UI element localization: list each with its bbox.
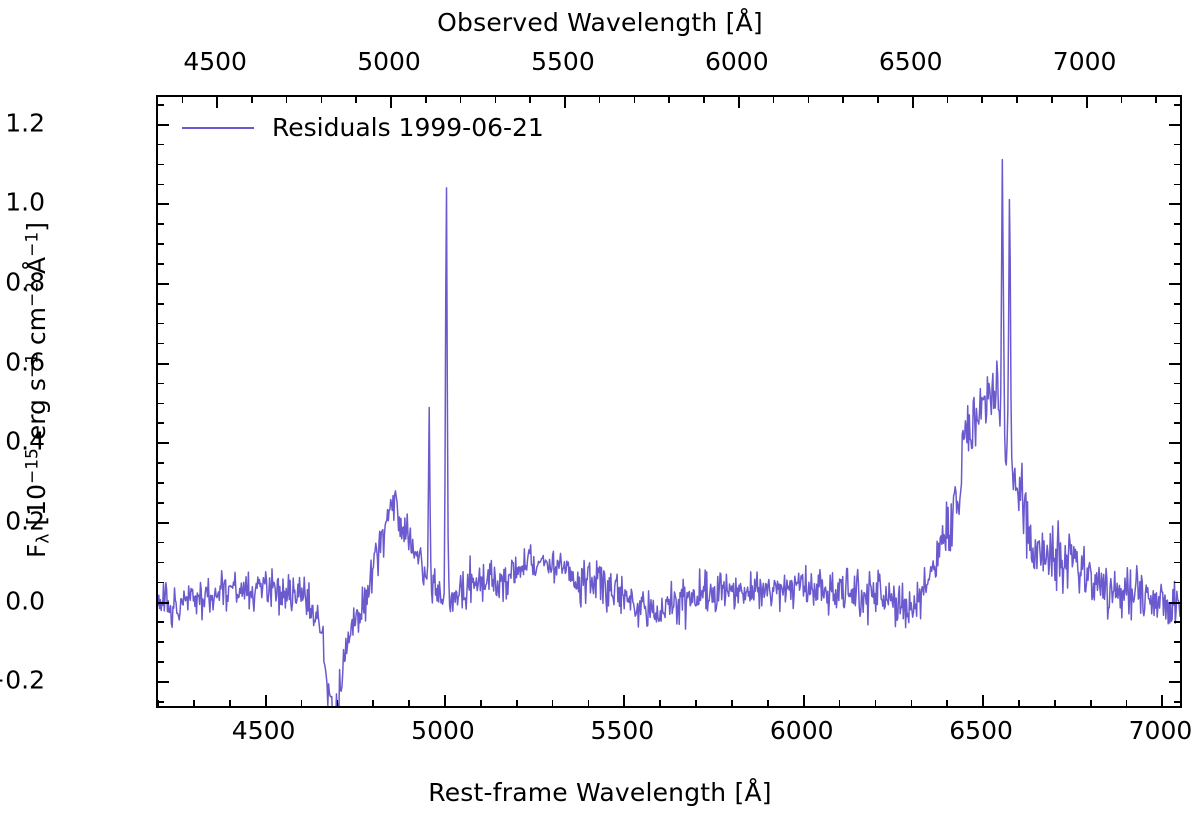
minor-tick [1126,700,1128,706]
figure-canvas: Observed Wavelength [Å] Fλ [10−15 erg s−… [0,0,1200,817]
minor-tick [321,97,323,103]
minor-tick [1174,482,1180,484]
major-tick [158,124,169,126]
major-tick [1169,681,1180,683]
minor-tick [1174,164,1180,166]
minor-tick [1174,343,1180,345]
minor-tick [158,482,164,484]
minor-tick [1174,462,1180,464]
minor-tick [552,700,554,706]
minor-tick [1121,97,1123,103]
major-tick [158,363,169,365]
minor-tick [301,700,303,706]
minor-tick [842,97,844,103]
minor-tick [877,97,879,103]
minor-tick [425,97,427,103]
minor-tick [808,97,810,103]
legend-label: Residuals 1999-06-21 [272,113,544,142]
major-tick [265,695,267,706]
minor-tick [158,303,164,305]
minor-tick [158,403,164,405]
minor-tick [495,97,497,103]
minor-tick [1174,422,1180,424]
minor-tick [193,700,195,706]
tick-label: 5000 [411,716,475,745]
minor-tick [1174,383,1180,385]
tick-label: 6500 [949,716,1013,745]
major-tick [1169,363,1180,365]
minor-tick [158,641,164,643]
minor-tick [408,700,410,706]
minor-tick [158,104,164,106]
minor-tick [1054,700,1056,706]
minor-tick [946,700,948,706]
minor-tick [460,97,462,103]
major-tick [912,97,914,108]
minor-tick [1174,323,1180,325]
tick-label: −0.2 [0,666,45,695]
minor-tick [251,97,253,103]
major-tick [1169,203,1180,205]
major-tick [216,97,218,108]
major-tick [1169,602,1180,604]
minor-tick [372,700,374,706]
minor-tick [158,243,164,245]
minor-tick [229,700,231,706]
minor-tick [1174,243,1180,245]
spectrum-line-chart [158,97,1180,706]
bottom-axis-title: Rest-frame Wavelength [Å] [0,778,1200,807]
minor-tick [158,582,164,584]
minor-tick [1174,303,1180,305]
minor-tick [158,621,164,623]
tick-label: 5500 [591,716,655,745]
major-tick [1161,695,1163,706]
minor-tick [158,502,164,504]
tick-label: 6500 [879,47,943,76]
major-tick [158,442,169,444]
tick-label: 0.2 [5,506,45,535]
minor-tick [911,700,913,706]
minor-tick [947,97,949,103]
major-tick [1086,97,1088,108]
minor-tick [355,97,357,103]
minor-tick [158,542,164,544]
plot-area: Residuals 1999-06-21 [156,95,1182,708]
minor-tick [1174,542,1180,544]
tick-label: 4500 [232,716,296,745]
major-tick [390,97,392,108]
legend: Residuals 1999-06-21 [182,113,544,142]
minor-tick [286,97,288,103]
major-tick [1169,124,1180,126]
minor-tick [158,422,164,424]
tick-label: 7000 [1129,716,1193,745]
major-tick [158,681,169,683]
minor-tick [1090,700,1092,706]
tick-label: 5000 [357,47,421,76]
major-tick [623,695,625,706]
minor-tick [1174,144,1180,146]
tick-label: 0.0 [5,586,45,615]
major-tick [158,602,169,604]
minor-tick [981,97,983,103]
minor-tick [158,184,164,186]
minor-tick [839,700,841,706]
tick-label: 1.0 [5,188,45,217]
tick-label: 4500 [183,47,247,76]
tick-label: 0.6 [5,347,45,376]
tick-label: 5500 [531,47,595,76]
minor-tick [158,661,164,663]
minor-tick [158,144,164,146]
minor-tick [158,343,164,345]
minor-tick [158,263,164,265]
minor-tick [158,701,164,703]
minor-tick [1174,502,1180,504]
minor-tick [703,97,705,103]
minor-tick [1174,104,1180,106]
major-tick [982,695,984,706]
minor-tick [1174,701,1180,703]
minor-tick [1174,223,1180,225]
minor-tick [634,97,636,103]
tick-label: 1.2 [5,108,45,137]
major-tick [564,97,566,108]
minor-tick [158,383,164,385]
minor-tick [1174,621,1180,623]
major-tick [1169,283,1180,285]
minor-tick [158,323,164,325]
major-tick [158,203,169,205]
minor-tick [1174,263,1180,265]
minor-tick [668,97,670,103]
minor-tick [158,462,164,464]
minor-tick [599,97,601,103]
minor-tick [767,700,769,706]
minor-tick [1174,184,1180,186]
minor-tick [659,700,661,706]
minor-tick [731,700,733,706]
major-tick [158,522,169,524]
minor-tick [1174,661,1180,663]
minor-tick [1016,97,1018,103]
minor-tick [1174,641,1180,643]
legend-line-sample [182,127,254,129]
tick-label: 0.8 [5,268,45,297]
minor-tick [337,700,339,706]
minor-tick [1174,562,1180,564]
minor-tick [480,700,482,706]
major-tick [738,97,740,108]
major-tick [444,695,446,706]
minor-tick [1155,97,1157,103]
major-tick [1169,522,1180,524]
major-tick [803,695,805,706]
minor-tick [875,700,877,706]
minor-tick [588,700,590,706]
minor-tick [158,164,164,166]
minor-tick [695,700,697,706]
minor-tick [529,97,531,103]
tick-label: 6000 [705,47,769,76]
major-tick [158,283,169,285]
tick-label: 0.4 [5,427,45,456]
top-axis-title: Observed Wavelength [Å] [0,8,1200,37]
minor-tick [158,223,164,225]
tick-label: 6000 [770,716,834,745]
minor-tick [1174,582,1180,584]
major-tick [1169,442,1180,444]
residual-spectrum-series [158,160,1180,706]
minor-tick [516,700,518,706]
minor-tick [1174,403,1180,405]
minor-tick [1051,97,1053,103]
minor-tick [773,97,775,103]
minor-tick [1018,700,1020,706]
minor-tick [182,97,184,103]
minor-tick [158,562,164,564]
tick-label: 7000 [1053,47,1117,76]
